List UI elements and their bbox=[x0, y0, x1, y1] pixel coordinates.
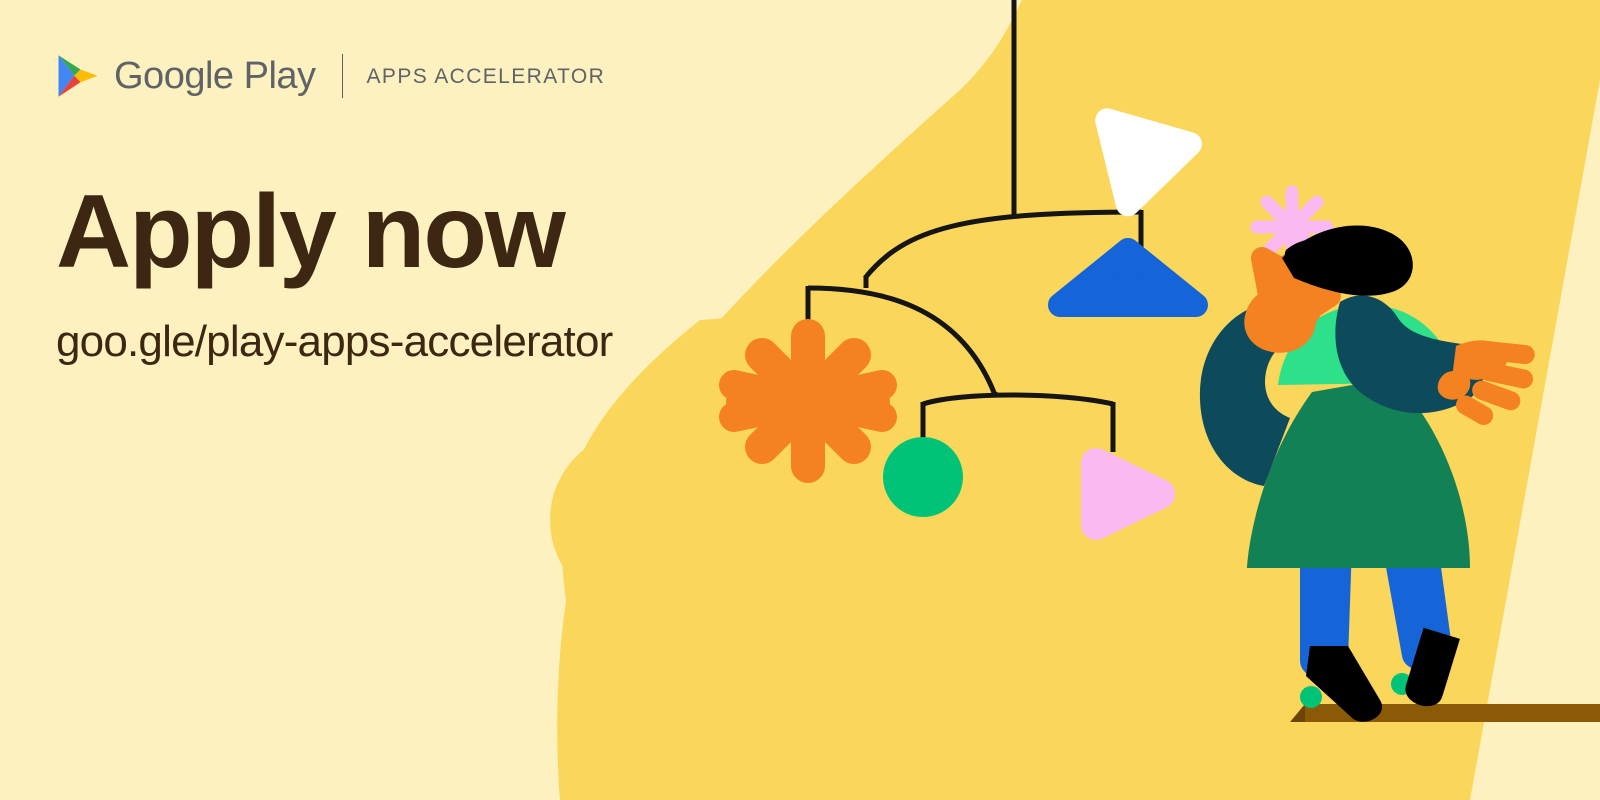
yellow-blob-corner-round bbox=[550, 430, 730, 610]
apply-url-link[interactable]: goo.gle/play-apps-accelerator bbox=[56, 318, 612, 366]
illustration bbox=[0, 0, 1600, 800]
ankle-dot-left bbox=[1300, 686, 1322, 708]
google-play-triangle-icon bbox=[56, 53, 100, 99]
lockup-divider bbox=[342, 54, 343, 98]
brand-lockup: Google Play APPS ACCELERATOR bbox=[56, 52, 605, 100]
orange-asterisk-outer bbox=[734, 385, 882, 417]
page-title: Apply now bbox=[56, 178, 564, 287]
google-play-wordmark: Google Play bbox=[114, 57, 316, 95]
promo-banner: Google Play APPS ACCELERATOR Apply now g… bbox=[0, 0, 1600, 800]
green-circle-ornament bbox=[883, 437, 963, 517]
program-name: APPS ACCELERATOR bbox=[367, 66, 606, 87]
